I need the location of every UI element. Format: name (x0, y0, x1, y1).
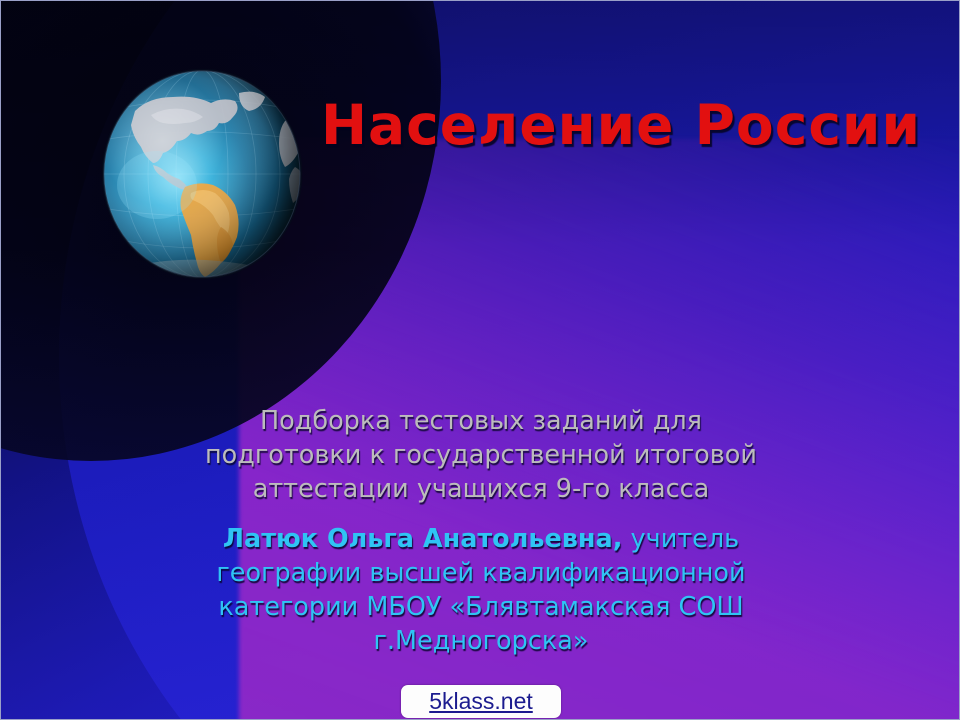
author-credit: Латюк Ольга Анатольевна, учитель географ… (151, 523, 811, 659)
globe-image (99, 67, 305, 281)
author-name: Латюк Ольга Анатольевна, (223, 524, 623, 554)
subtitle-line: подготовки к государственной итоговой (151, 439, 811, 473)
watermark-link[interactable]: 5klass.net (429, 688, 533, 715)
slide-subtitle: Подборка тестовых заданий для подготовки… (151, 405, 811, 507)
slide-title: Население России (321, 97, 921, 155)
watermark-badge[interactable]: 5klass.net (401, 685, 561, 718)
subtitle-line: аттестации учащихся 9-го класса (151, 473, 811, 507)
globe-earth-americas-icon (99, 67, 305, 281)
presentation-slide: Население России Подборка тестовых задан… (0, 0, 960, 720)
subtitle-line: Подборка тестовых заданий для (151, 405, 811, 439)
